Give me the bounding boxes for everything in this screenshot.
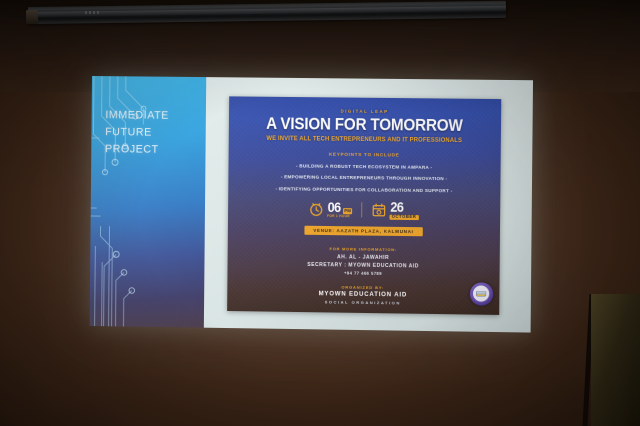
poster-subtitle: WE INVITE ALL TECH ENTREPRENEURS AND IT … xyxy=(242,136,488,145)
slide-left-panel: IMMEDIATE FUTURE PROJECT xyxy=(90,76,207,328)
roller-strip xyxy=(28,6,506,17)
clock-icon xyxy=(309,202,324,217)
time-meridiem: PM xyxy=(343,209,352,214)
event-poster[interactable]: DIGITAL LEAP A VISION FOR TOMORROW WE IN… xyxy=(227,96,500,314)
contact-phone: +94 77 466 5789 xyxy=(237,269,490,278)
calendar-icon xyxy=(371,203,386,218)
slide-left-panel-title: IMMEDIATE FUTURE PROJECT xyxy=(105,107,169,158)
date-cell: 26 OCTOBER xyxy=(371,201,418,220)
date-time-divider xyxy=(361,203,362,218)
roller-end-cap xyxy=(26,10,38,24)
organization-seal-logo xyxy=(469,282,493,306)
room-photo-scene: IMMEDIATE FUTURE PROJECT DIGITAL LEAP A … xyxy=(0,0,640,426)
panel-line-2: FUTURE xyxy=(105,124,169,141)
date-value: 26 xyxy=(390,201,403,213)
date-month: OCTOBER xyxy=(390,214,419,220)
door-frame xyxy=(580,294,640,426)
seal-inner xyxy=(472,285,490,303)
venue-banner: VENUE: AAZATH PLAZA, KALMUNAI xyxy=(304,226,423,236)
keypoint-item: - BUILDING A ROBUST TECH ECOSYSTEM IN AM… xyxy=(238,162,491,170)
poster-title: A VISION FOR TOMORROW xyxy=(247,116,483,135)
keypoints-heading: KEYPOINTS TO INCLUDE xyxy=(238,151,491,159)
organizer-type: SOCIAL ORGANIZATION xyxy=(236,299,489,308)
keypoint-item: - EMPOWERING LOCAL ENTREPRENEURS THROUGH… xyxy=(238,174,491,182)
door-opening xyxy=(591,294,640,426)
roller-vent-dots xyxy=(85,11,99,14)
time-value: 06 xyxy=(328,202,341,214)
projected-slide[interactable]: IMMEDIATE FUTURE PROJECT DIGITAL LEAP A … xyxy=(90,76,533,333)
time-cell: 06 PM FOR 1 HOUR xyxy=(309,201,353,218)
panel-line-1: IMMEDIATE xyxy=(105,107,169,124)
open-book-icon xyxy=(476,291,486,297)
date-time-row: 06 PM FOR 1 HOUR xyxy=(237,199,490,221)
time-note: FOR 1 HOUR xyxy=(327,215,350,219)
keypoint-item: - IDENTIFYING OPPORTUNITIES FOR COLLABOR… xyxy=(238,185,491,193)
panel-line-3: PROJECT xyxy=(105,141,169,158)
